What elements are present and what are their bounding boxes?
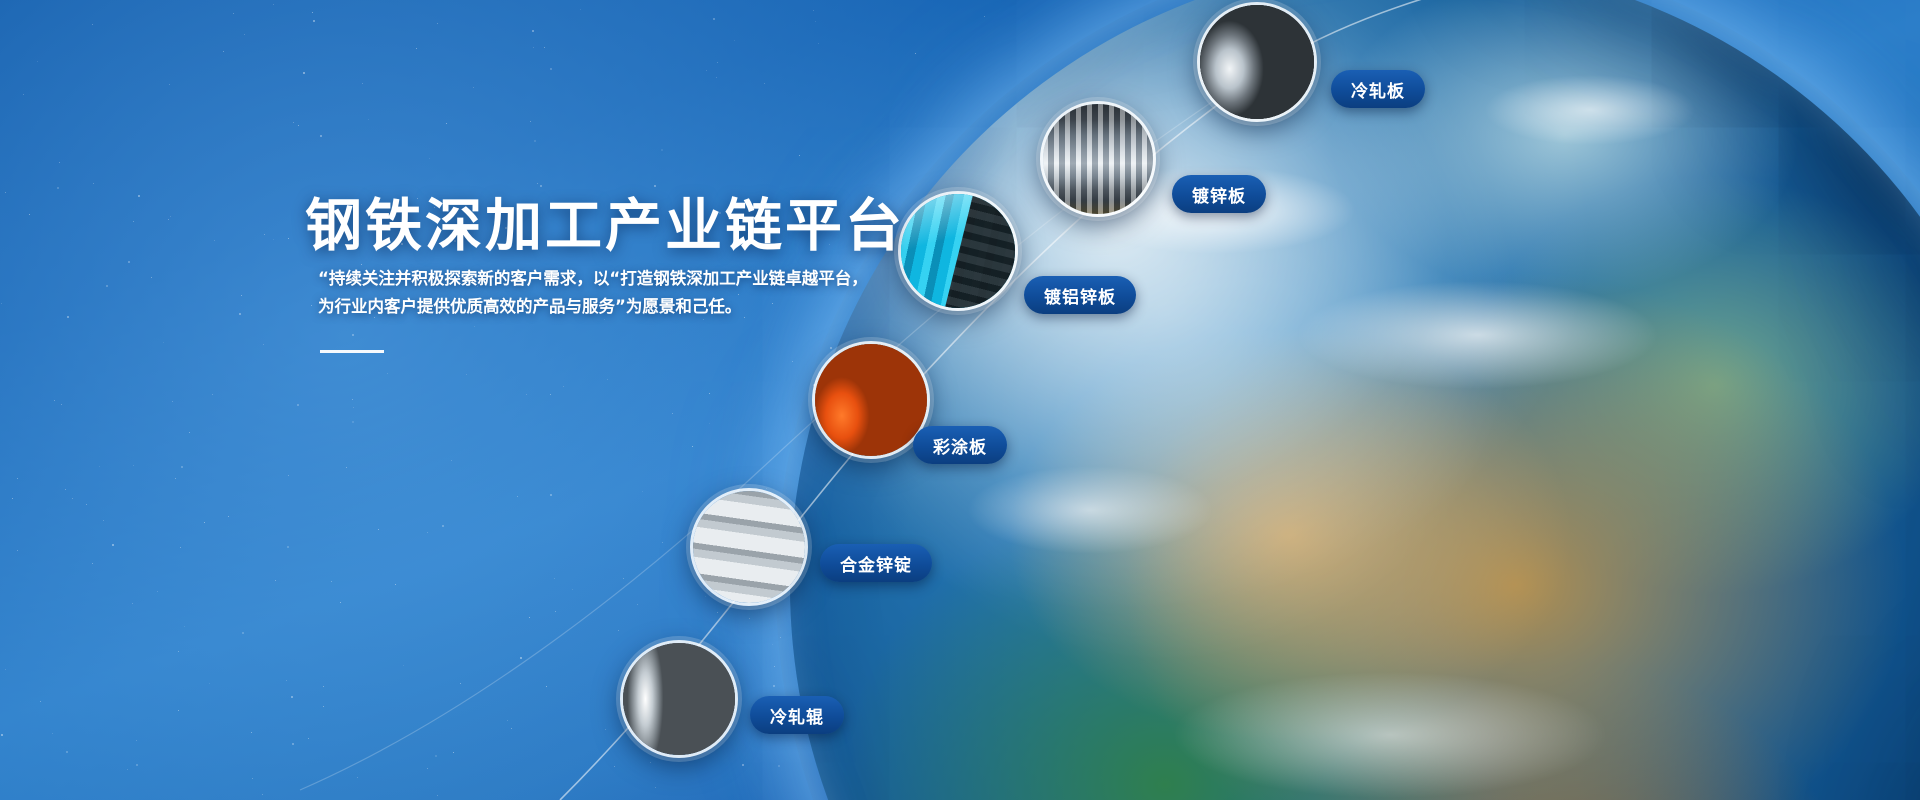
globe-clouds [790, 0, 1920, 800]
product-label-2[interactable]: 镀锌板 [1172, 175, 1266, 213]
earth-globe-graphic [790, 0, 1920, 800]
product-label-4[interactable]: 彩涂板 [913, 426, 1007, 464]
polished-roller-photo [623, 643, 735, 755]
steel-coils-photo [1200, 5, 1314, 119]
white-rule [320, 350, 384, 353]
hero-banner: 冷轧板 镀锌板 镀铝锌板 彩涂板 合金锌锭 冷轧辊 钢铁深加工产业链平台 [0, 0, 1920, 800]
product-label-3[interactable]: 镀铝锌板 [1024, 276, 1136, 314]
blue-coated-sheet-photo [901, 194, 1015, 308]
globe-terminator-shadow [790, 0, 1920, 800]
zinc-ingot-stack-photo [693, 491, 805, 603]
globe-surface [790, 0, 1920, 800]
subtitle-line-2: 为行业内客户提供优质高效的产品与服务”为愿景和己任。 [318, 293, 878, 321]
connecting-curve [0, 0, 1920, 800]
coil-warehouse-photo [1043, 104, 1153, 214]
globe-atmosphere-glow [776, 0, 1920, 800]
product-image-3[interactable] [898, 191, 1018, 311]
product-label-6[interactable]: 冷轧辊 [750, 696, 844, 734]
product-label-1[interactable]: 冷轧板 [1331, 70, 1425, 108]
product-image-5[interactable] [690, 488, 808, 606]
product-label-5[interactable]: 合金锌锭 [820, 544, 932, 582]
page-subtitle: “持续关注并积极探索新的客户需求，以“打造钢铁深加工产业链卓越平台， 为行业内客… [318, 265, 878, 322]
product-image-6[interactable] [620, 640, 738, 758]
product-image-1[interactable] [1197, 2, 1317, 122]
color-coated-coil-photo [815, 344, 927, 456]
subtitle-line-1: “持续关注并积极探索新的客户需求，以“打造钢铁深加工产业链卓越平台， [318, 265, 878, 293]
starfield-decoration [0, 0, 1920, 800]
product-image-2[interactable] [1040, 101, 1156, 217]
page-title: 钢铁深加工产业链平台 [305, 180, 905, 262]
